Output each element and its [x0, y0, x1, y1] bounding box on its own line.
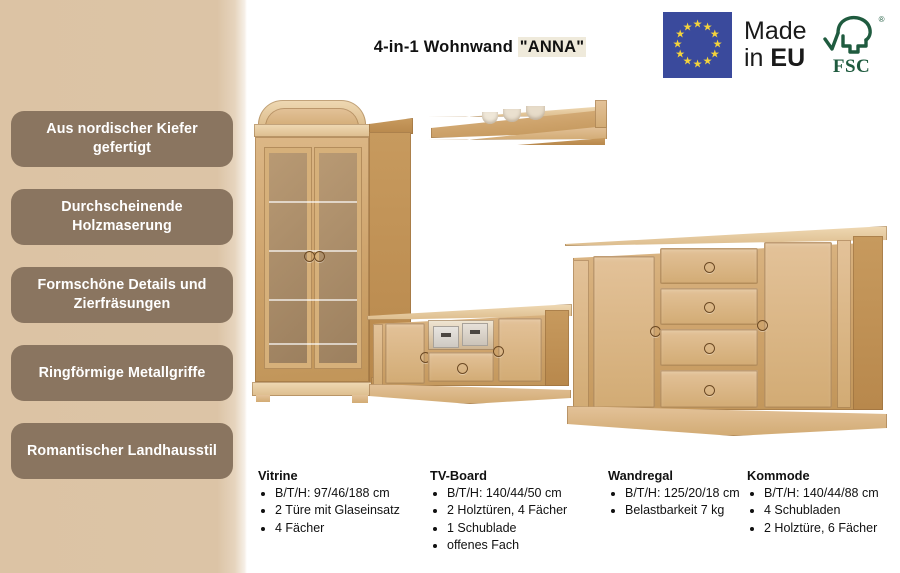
furniture-scene	[247, 80, 900, 460]
spec-list: B/T/H: 97/46/188 cm 2 Türe mit Glaseinsa…	[258, 485, 400, 537]
tv-board-plinth	[369, 384, 571, 404]
spec-item: 4 Fächer	[275, 520, 400, 537]
tv-board-storage-box-left-handle	[441, 333, 451, 337]
page-title-prefix: 4-in-1 Wohnwand	[374, 38, 518, 56]
eu-star-icon: ★	[693, 60, 703, 71]
tv-board-handle-right	[493, 346, 504, 357]
tv-board-pilaster-left	[373, 324, 383, 386]
certification-badges: ★★★★★★★★★★★★ Made in EU ® FSC	[663, 12, 885, 78]
spec-item: B/T/H: 140/44/88 cm	[764, 485, 879, 502]
spec-list: B/T/H: 140/44/88 cm 4 Schubladen 2 Holzt…	[747, 485, 879, 537]
vitrine-shelf	[269, 299, 357, 301]
vitrine-foot-right	[352, 395, 368, 403]
vitrine-glass-left	[269, 153, 307, 363]
page-title: 4-in-1 Wohnwand "ANNA"	[330, 38, 630, 57]
spec-heading: Wandregal	[608, 468, 740, 483]
spec-heading: Kommode	[747, 468, 879, 483]
made-in-eu-line2: in EU	[744, 46, 807, 71]
fsc-text-label: FSC	[819, 56, 885, 78]
kommode-plinth	[567, 406, 887, 436]
tv-board-storage-box-right	[462, 323, 488, 346]
spec-item: Belastbarkeit 7 kg	[625, 502, 740, 519]
feature-pill-label: Durchscheinende Holzmaserung	[23, 198, 221, 236]
wandregal-figure	[427, 88, 612, 158]
made-in-eu-eu: EU	[770, 44, 805, 72]
tv-board-door-left	[385, 323, 425, 384]
spec-item: 1 Schublade	[447, 520, 567, 537]
feature-pill-list: Aus nordischer Kiefer gefertigt Durchsch…	[11, 111, 233, 501]
fsc-logo: ® FSC	[819, 13, 885, 77]
vitrine-plinth-front	[252, 382, 372, 396]
spec-heading: TV-Board	[430, 468, 567, 483]
feature-pill-label: Aus nordischer Kiefer gefertigt	[23, 120, 221, 158]
product-infographic: Aus nordischer Kiefer gefertigt Durchsch…	[0, 0, 900, 573]
kommode-pilaster-right	[837, 240, 851, 408]
made-in-eu-label: Made in EU	[744, 19, 807, 71]
kommode-door-left	[593, 256, 655, 408]
vitrine-shelf	[269, 201, 357, 203]
spec-column-tv-board: TV-Board B/T/H: 140/44/50 cm 2 Holztüren…	[430, 468, 567, 554]
feature-pill-label: Ringförmige Metallgriffe	[39, 364, 206, 383]
tv-board-storage-box-right-handle	[470, 330, 480, 334]
eu-star-icon: ★	[683, 22, 693, 33]
specifications-row: Vitrine B/T/H: 97/46/188 cm 2 Türe mit G…	[258, 468, 900, 568]
vitrine-shelf	[269, 343, 357, 345]
eu-star-icon: ★	[675, 50, 685, 61]
eu-star-icon: ★	[703, 57, 713, 68]
spec-list: B/T/H: 125/20/18 cm Belastbarkeit 7 kg	[608, 485, 740, 520]
spec-heading: Vitrine	[258, 468, 400, 483]
spec-item: offenes Fach	[447, 537, 567, 554]
kommode-drawer-1-handle	[704, 262, 715, 273]
feature-pill-label: Romantischer Landhausstil	[27, 442, 217, 461]
tv-board-door-right	[498, 318, 542, 382]
spec-item: 4 Schubladen	[764, 502, 879, 519]
feature-sidebar: Aus nordischer Kiefer gefertigt Durchsch…	[0, 0, 247, 573]
kommode-figure	[565, 198, 895, 453]
fsc-tree-checkmark-icon	[819, 13, 885, 59]
kommode-drawer-4-handle	[704, 385, 715, 396]
fsc-registered-mark: ®	[879, 15, 885, 24]
vitrine-foot-left	[256, 395, 270, 402]
eu-star-icon: ★	[673, 40, 683, 51]
feature-pill-4: Ringförmige Metallgriffe	[11, 345, 233, 401]
tv-board-drawer-handle	[457, 363, 468, 374]
feature-pill-label: Formschöne Details und Zierfräsungen	[23, 276, 221, 314]
kommode-pilaster-left	[573, 260, 589, 410]
spec-list: B/T/H: 140/44/50 cm 2 Holztüren, 4 Fäche…	[430, 485, 567, 554]
made-in-eu-line1: Made	[744, 19, 807, 44]
tv-board-figure	[367, 280, 582, 420]
spec-item: B/T/H: 140/44/50 cm	[447, 485, 567, 502]
page-title-highlight: "ANNA"	[518, 37, 587, 57]
tv-board-storage-box-left	[433, 326, 459, 348]
feature-pill-1: Aus nordischer Kiefer gefertigt	[11, 111, 233, 167]
made-in-eu-in: in	[744, 44, 770, 72]
kommode-drawer-2-handle	[704, 302, 715, 313]
feature-pill-5: Romantischer Landhausstil	[11, 423, 233, 479]
spec-item: 2 Holztüre, 6 Fächer	[764, 520, 879, 537]
feature-pill-2: Durchscheinende Holzmaserung	[11, 189, 233, 245]
kommode-handle-right	[757, 320, 768, 331]
spec-item: B/T/H: 97/46/188 cm	[275, 485, 400, 502]
kommode-door-right	[764, 242, 832, 408]
eu-star-icon: ★	[693, 20, 703, 31]
kommode-drawer-3-handle	[704, 343, 715, 354]
spec-column-wandregal: Wandregal B/T/H: 125/20/18 cm Belastbark…	[608, 468, 740, 520]
spec-column-vitrine: Vitrine B/T/H: 97/46/188 cm 2 Türe mit G…	[258, 468, 400, 537]
spec-item: 2 Türe mit Glaseinsatz	[275, 502, 400, 519]
feature-pill-3: Formschöne Details und Zierfräsungen	[11, 267, 233, 323]
wandregal-end-cap	[595, 100, 607, 128]
spec-item: 2 Holztüren, 4 Fächer	[447, 502, 567, 519]
spec-item: B/T/H: 125/20/18 cm	[625, 485, 740, 502]
spec-column-kommode: Kommode B/T/H: 140/44/88 cm 4 Schubladen…	[747, 468, 879, 537]
vitrine-cornice-front	[254, 124, 370, 137]
eu-flag-icon: ★★★★★★★★★★★★	[663, 12, 732, 78]
vitrine-handle-right	[314, 251, 325, 262]
kommode-side-panel	[853, 236, 883, 410]
